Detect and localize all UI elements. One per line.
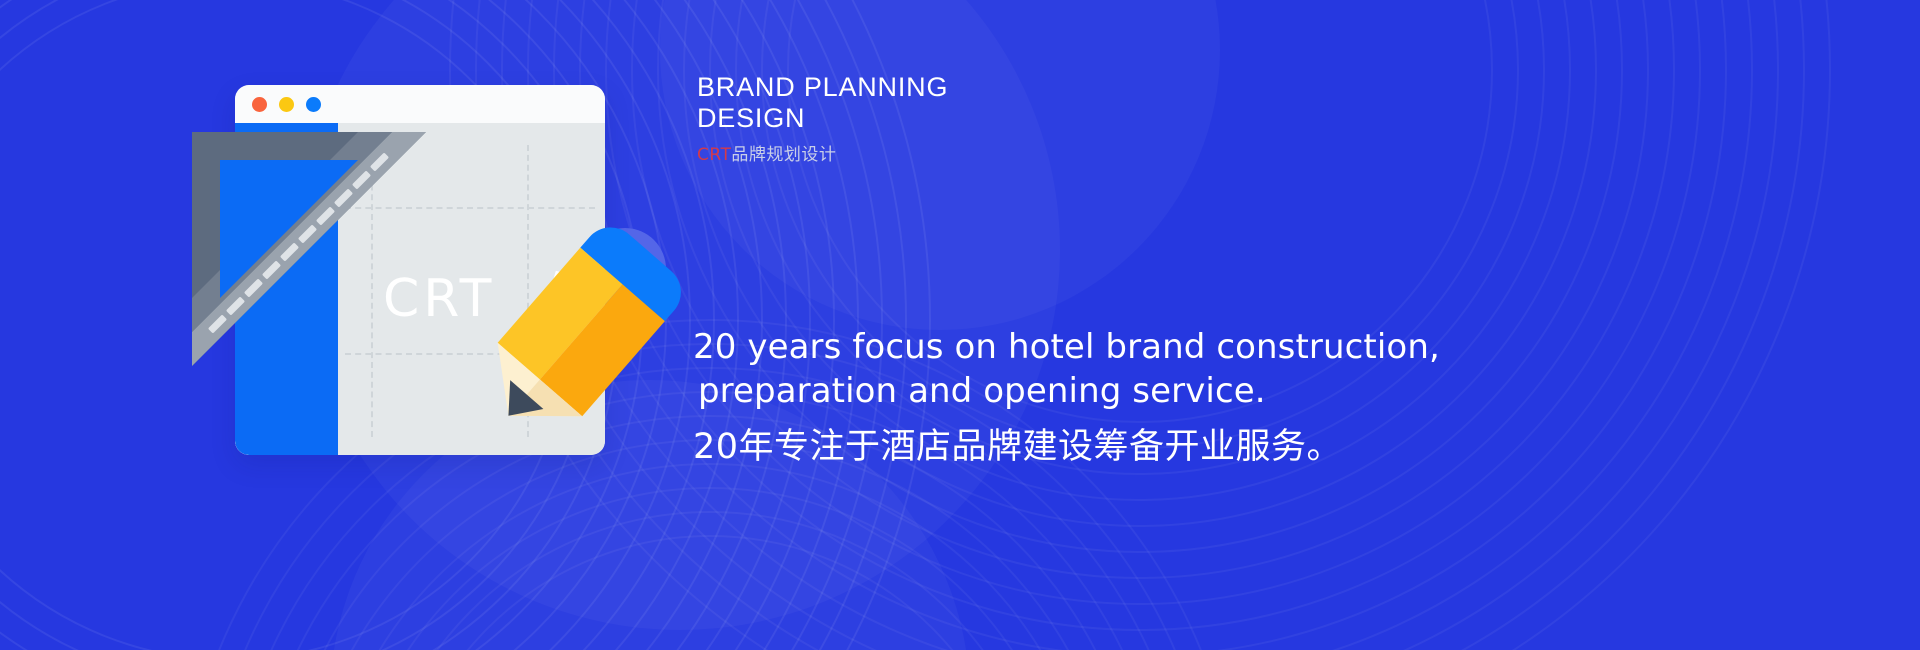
tagline-en-line2: preparation and opening service. [693, 370, 1813, 414]
tagline-en-line1: 20 years focus on hotel brand constructi… [693, 326, 1813, 370]
kicker-subtitle-cn: 品牌规划设计 [731, 145, 836, 165]
kicker-block: BRAND PLANNING DESIGN CRT品牌规划设计 [697, 72, 1317, 165]
design-illustration: CRT [186, 78, 686, 478]
brand-banner: CRT [0, 0, 1920, 650]
kicker-title: BRAND PLANNING DESIGN [697, 72, 1317, 133]
background-disc-right [660, 0, 1220, 330]
tagline-cn-line: 20年专注于酒店品牌建设筹备开业服务。 [693, 425, 1813, 471]
browser-titlebar [235, 85, 605, 123]
close-dot-icon[interactable] [252, 97, 267, 112]
kicker-subtitle: CRT品牌规划设计 [697, 140, 1317, 165]
pencil-icon [466, 223, 686, 453]
maximize-dot-icon[interactable] [306, 97, 321, 112]
kicker-brand-name: CRT [697, 145, 731, 165]
minimize-dot-icon[interactable] [279, 97, 294, 112]
tagline-block: 20 years focus on hotel brand constructi… [693, 326, 1813, 471]
triangle-ruler-icon [186, 126, 436, 376]
